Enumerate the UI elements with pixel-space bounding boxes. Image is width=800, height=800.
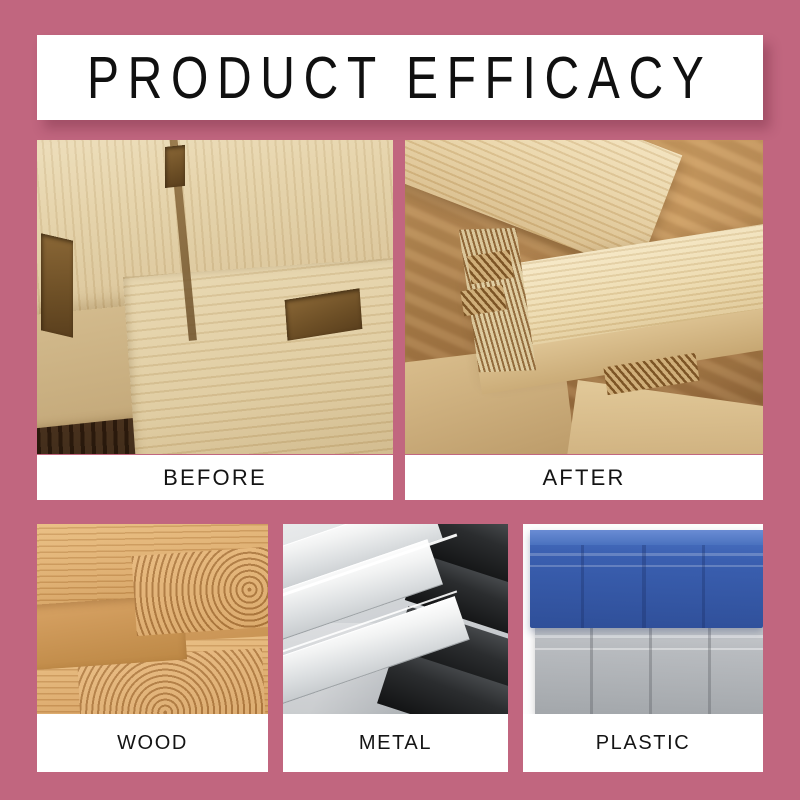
plastic-blue-rim (530, 530, 763, 546)
plastic-blue-rib (530, 553, 763, 556)
plastic-image (523, 524, 763, 714)
plastic-blue-rib (530, 565, 763, 567)
after-label: AFTER (405, 455, 763, 500)
metal-image (283, 524, 508, 714)
before-front-grain (122, 255, 393, 454)
before-mortise-slot (165, 145, 185, 188)
page-title-banner: PRODUCT EFFICACY (37, 35, 763, 120)
plastic-blue-rib-vertical (702, 545, 705, 628)
before-box-front-face (122, 255, 393, 454)
wood-label: WOOD (37, 714, 268, 772)
before-label-text: BEFORE (163, 465, 267, 491)
wood-label-text: WOOD (117, 732, 188, 755)
plastic-blue-crate (530, 530, 763, 629)
after-image (405, 140, 763, 454)
poster-canvas: PRODUCT EFFICACY (0, 0, 800, 800)
plastic-label-text: PLASTIC (596, 732, 691, 755)
plastic-label: PLASTIC (523, 714, 763, 772)
before-image (37, 140, 393, 454)
plastic-blue-rib-vertical (581, 545, 584, 628)
page-title: PRODUCT EFFICACY (87, 48, 712, 107)
plastic-grey-rib-vertical (649, 627, 652, 714)
plastic-grey-rib-vertical (590, 627, 593, 714)
before-mortise-slot (41, 234, 73, 339)
metal-label: METAL (283, 714, 508, 772)
metal-label-text: METAL (359, 732, 432, 755)
plastic-grey-rib-vertical (708, 627, 711, 714)
wood-image (37, 524, 268, 714)
plastic-grey-crate (535, 613, 763, 714)
after-label-text: AFTER (542, 465, 625, 491)
wood-upper-end-grain (131, 546, 268, 636)
plastic-blue-rib-vertical (642, 545, 646, 628)
before-label: BEFORE (37, 455, 393, 500)
